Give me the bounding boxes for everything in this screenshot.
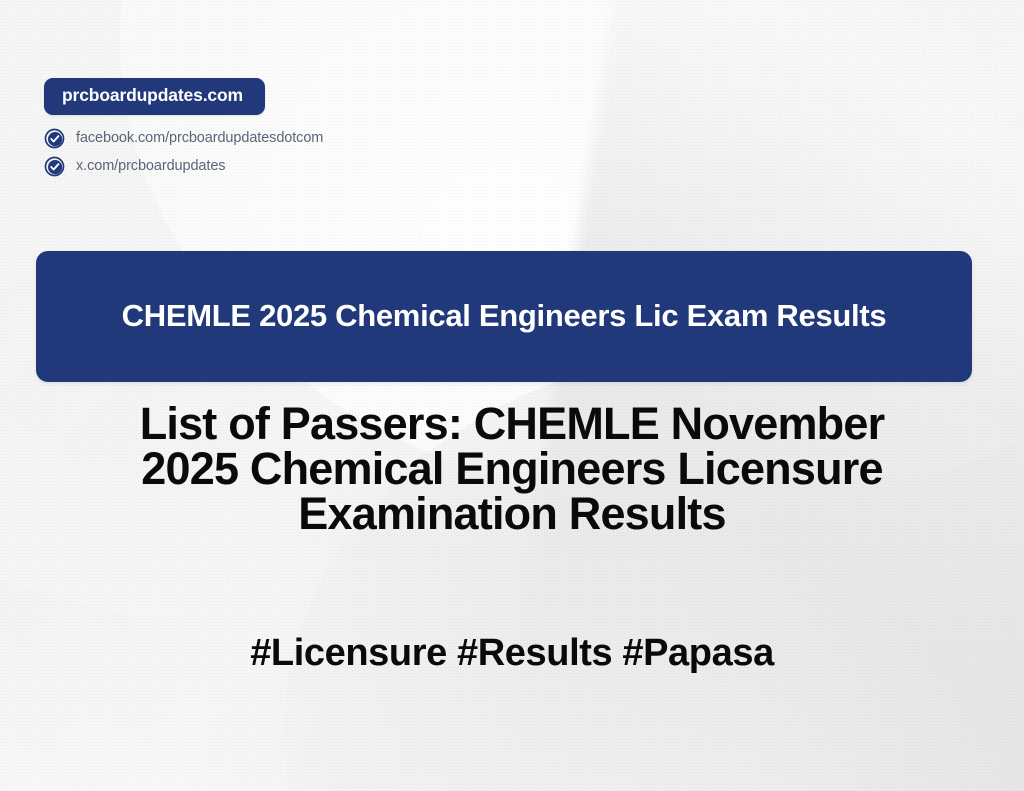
social-link-facebook[interactable]: facebook.com/prcboardupdatesdotcom: [44, 128, 564, 149]
social-link-x[interactable]: x.com/prcboardupdates: [44, 156, 564, 177]
social-link-label: facebook.com/prcboardupdatesdotcom: [76, 131, 323, 146]
verified-check-icon: [44, 128, 65, 149]
headline-banner: CHEMLE 2025 Chemical Engineers Lic Exam …: [36, 251, 972, 382]
site-name-chip[interactable]: prcboardupdates.com: [44, 78, 265, 115]
promo-card: prcboardupdates.com facebook.com/prcboar…: [0, 0, 1024, 791]
social-links-list: facebook.com/prcboardupdatesdotcom x.com…: [44, 128, 564, 177]
page-title: List of Passers: CHEMLE November 2025 Ch…: [52, 401, 972, 536]
brand-block: prcboardupdates.com facebook.com/prcboar…: [44, 78, 564, 177]
banner-title: CHEMLE 2025 Chemical Engineers Lic Exam …: [36, 299, 972, 333]
verified-check-icon: [44, 156, 65, 177]
hashtag-line: #Licensure #Results #Papasa: [52, 634, 972, 672]
social-link-label: x.com/prcboardupdates: [76, 159, 225, 174]
